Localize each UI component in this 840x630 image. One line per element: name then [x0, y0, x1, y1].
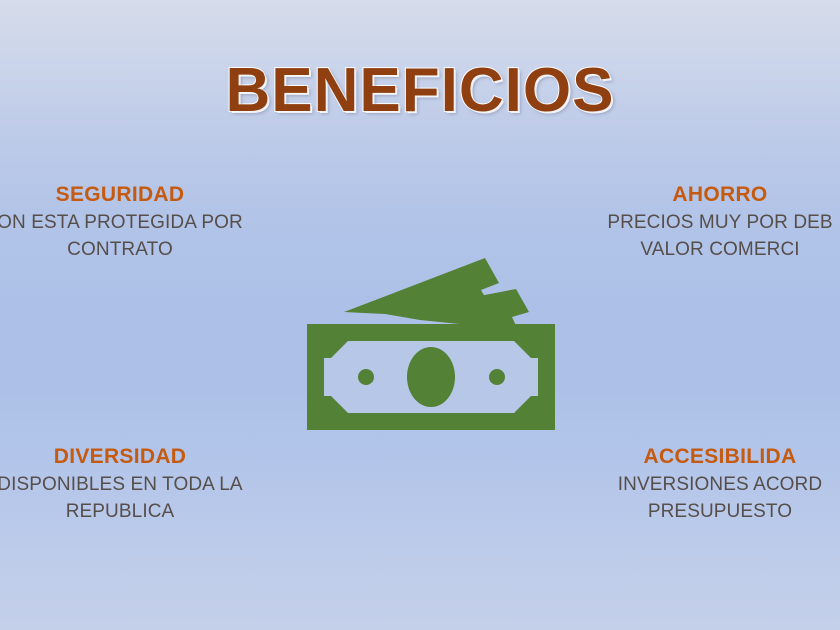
- benefit-body-line: DISPONIBLES EN TODA LA: [0, 472, 280, 499]
- benefit-block-ahorro: AHORRO PRECIOS MUY POR DEB VALOR COMERCI: [560, 182, 840, 264]
- money-banknotes-icon: [300, 248, 562, 440]
- benefit-block-diversidad: DIVERSIDAD DISPONIBLES EN TODA LA REPUBL…: [0, 444, 280, 526]
- benefit-body-accesibilidad: INVERSIONES ACORD PRESUPUESTO: [560, 472, 840, 526]
- benefit-heading-accesibilidad: ACCESIBILIDA: [560, 444, 840, 470]
- benefit-body-line: PRESUPUESTO: [560, 499, 840, 526]
- benefit-block-accesibilidad: ACCESIBILIDA INVERSIONES ACORD PRESUPUES…: [560, 444, 840, 526]
- benefit-body-line: CONTRATO: [0, 237, 280, 264]
- money-banknotes-graphic: [300, 248, 562, 440]
- banknote-dot-left: [358, 369, 374, 385]
- benefit-body-line: REPUBLICA: [0, 499, 280, 526]
- benefit-heading-seguridad: SEGURIDAD: [0, 182, 280, 208]
- benefit-body-seguridad: ON ESTA PROTEGIDA POR CONTRATO: [0, 210, 280, 264]
- benefit-body-ahorro: PRECIOS MUY POR DEB VALOR COMERCI: [560, 210, 840, 264]
- banknote-dot-right: [489, 369, 505, 385]
- presentation-slide: BENEFICIOS SEGURIDAD ON ESTA PROTEGIDA P…: [0, 0, 840, 630]
- page-title: BENEFICIOS: [226, 55, 615, 126]
- banknote-center-oval: [407, 347, 455, 407]
- benefit-heading-diversidad: DIVERSIDAD: [0, 444, 280, 470]
- benefit-heading-ahorro: AHORRO: [560, 182, 840, 208]
- benefit-body-line: PRECIOS MUY POR DEB: [560, 210, 840, 237]
- benefit-body-diversidad: DISPONIBLES EN TODA LA REPUBLICA: [0, 472, 280, 526]
- benefit-block-seguridad: SEGURIDAD ON ESTA PROTEGIDA POR CONTRATO: [0, 182, 280, 264]
- benefit-body-line: INVERSIONES ACORD: [560, 472, 840, 499]
- benefit-body-line: VALOR COMERCI: [560, 237, 840, 264]
- benefit-body-line: ON ESTA PROTEGIDA POR: [0, 210, 280, 237]
- title-block: BENEFICIOS: [0, 55, 840, 126]
